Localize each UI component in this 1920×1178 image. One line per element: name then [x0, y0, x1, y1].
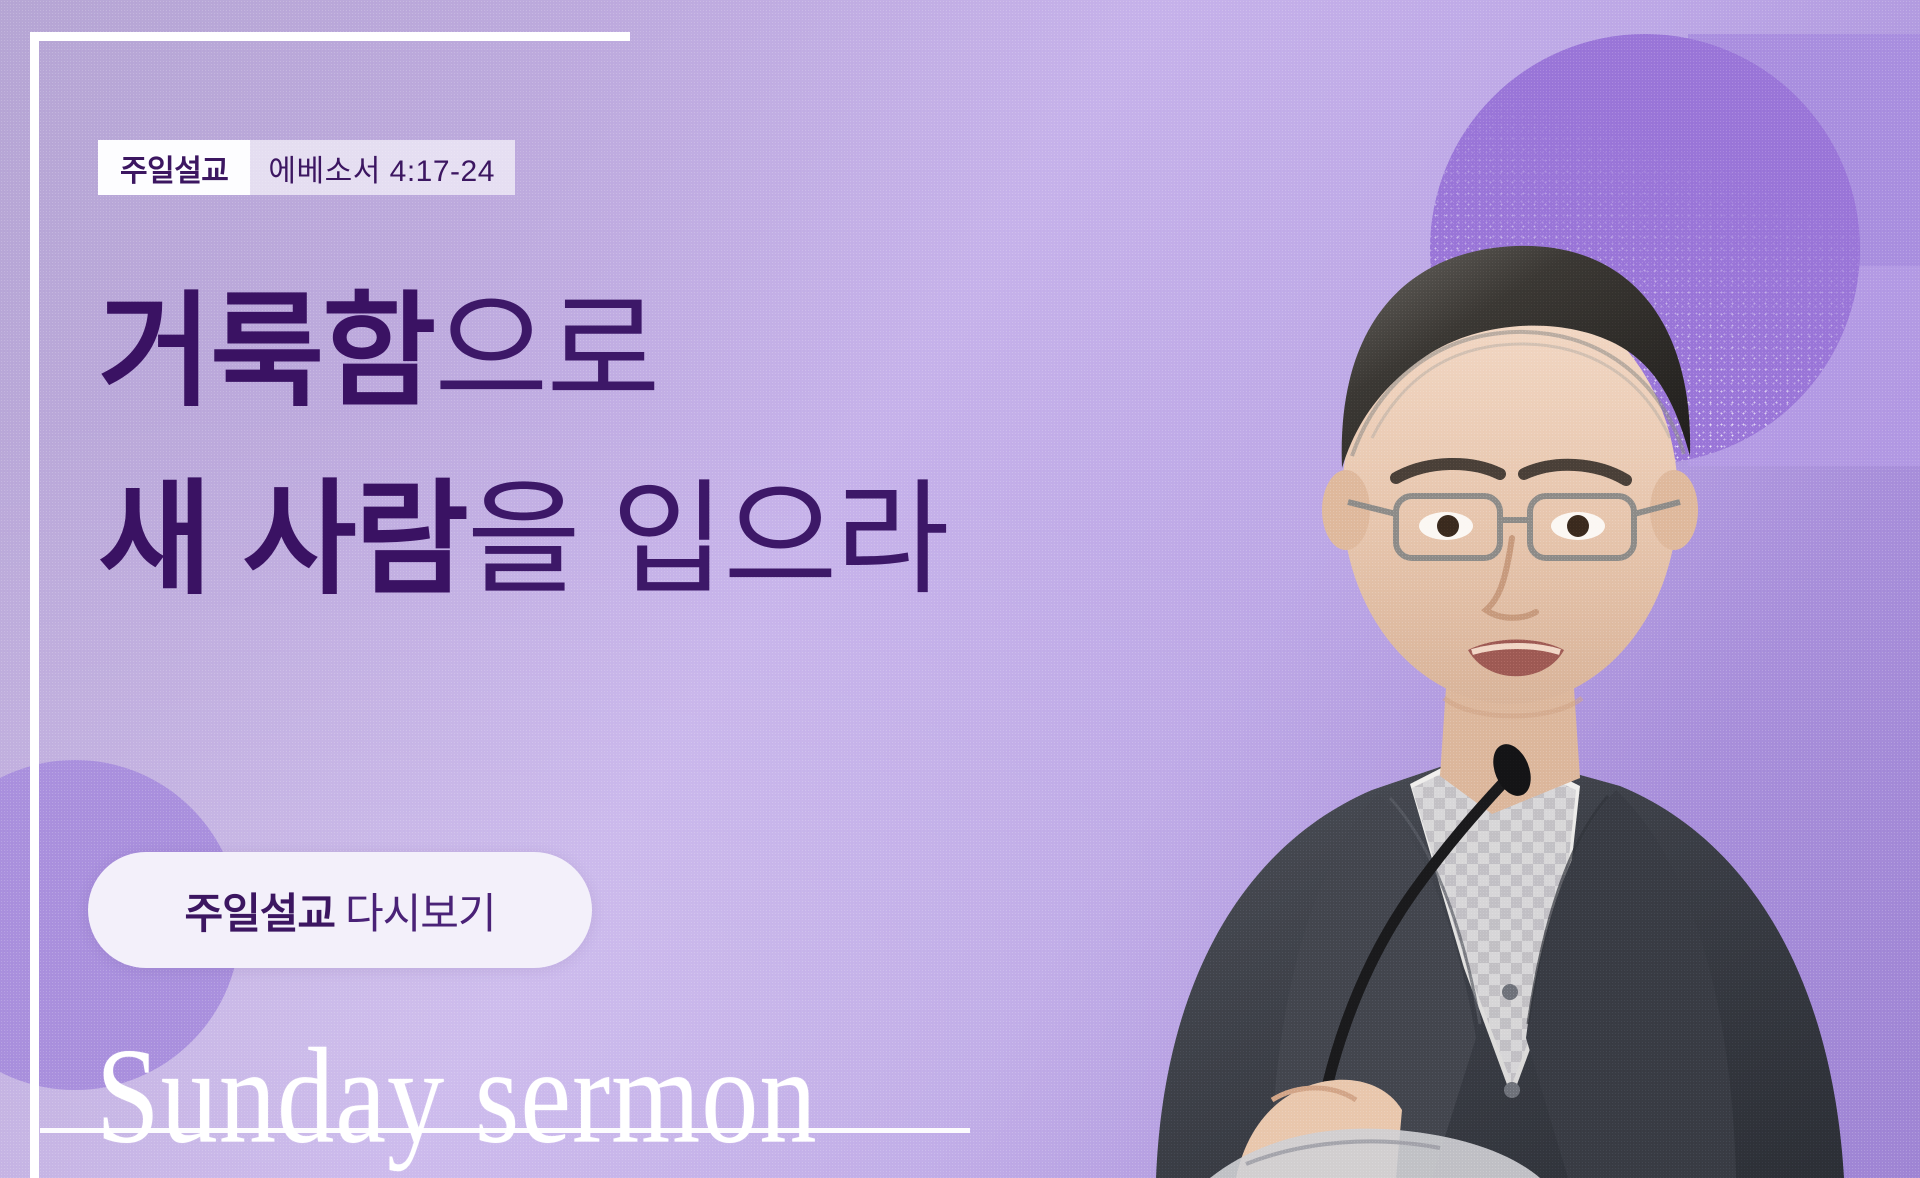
headline-line-1: 거룩함으로: [98, 258, 1108, 446]
headline-line-1-light: 으로: [434, 283, 658, 421]
cta-strong-label: 주일설교: [184, 880, 335, 941]
sermon-banner: 주일설교 에베소서 4:17-24 거룩함으로 새 사람을 입으라 주일설교 다…: [0, 0, 1920, 1178]
page-title: 거룩함으로 새 사람을 입으라: [98, 258, 1108, 635]
frame-vertical-line: [30, 32, 39, 1178]
badge-category-label: 주일설교: [98, 140, 250, 195]
headline-line-1-strong: 거룩함: [98, 283, 434, 421]
cta-light-label: 다시보기: [345, 880, 496, 941]
headline-line-2-light: 을 입으라: [467, 471, 948, 609]
sermon-badge: 주일설교 에베소서 4:17-24: [98, 140, 515, 195]
badge-scripture-reference: 에베소서 4:17-24: [250, 140, 514, 195]
speaker-photo: [1060, 138, 1920, 1178]
headline-line-2-strong: 새 사람: [98, 471, 467, 609]
sunday-sermon-wordmark: Sunday sermon: [96, 1028, 818, 1165]
content-column: 주일설교 에베소서 4:17-24 거룩함으로 새 사람을 입으라 주일설교 다…: [98, 0, 1118, 1178]
watch-sermon-replay-button[interactable]: 주일설교 다시보기: [88, 852, 592, 968]
headline-line-2: 새 사람을 입으라: [98, 446, 1108, 634]
wordmark-underline: [40, 1128, 970, 1133]
